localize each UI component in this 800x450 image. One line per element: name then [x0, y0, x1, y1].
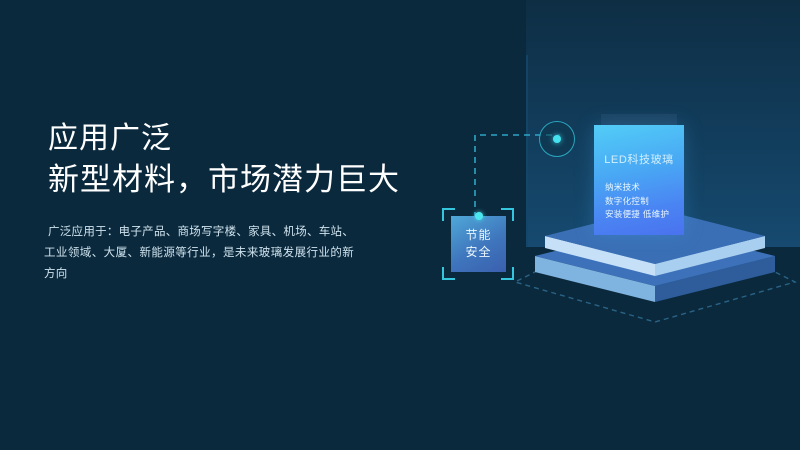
glass-feature-3: 安装便捷 低维护 — [605, 208, 669, 222]
feature-badge: 节能 安全 — [442, 208, 514, 280]
badge-line-2: 安全 — [465, 244, 491, 261]
node-circle-icon — [539, 121, 575, 157]
badge-box: 节能 安全 — [451, 216, 506, 272]
node-dot-icon — [553, 135, 561, 143]
glass-panel-title: LED科技玻璃 — [594, 151, 684, 167]
glass-feature-2: 数字化控制 — [605, 195, 669, 209]
slide-canvas: 应用广泛 新型材料，市场潜力巨大 广泛应用于：电子产品、商场写字楼、家具、机场、… — [0, 0, 800, 450]
glass-panel-features: 纳米技术 数字化控制 安装便捷 低维护 — [605, 181, 669, 222]
glass-panel: LED科技玻璃 纳米技术 数字化控制 安装便捷 低维护 — [594, 125, 684, 235]
badge-line-1: 节能 — [465, 227, 491, 244]
illustration-group: LED科技玻璃 纳米技术 数字化控制 安装便捷 低维护 节能 安全 — [0, 0, 800, 450]
glass-feature-1: 纳米技术 — [605, 181, 669, 195]
marker-dot-icon — [475, 212, 483, 220]
